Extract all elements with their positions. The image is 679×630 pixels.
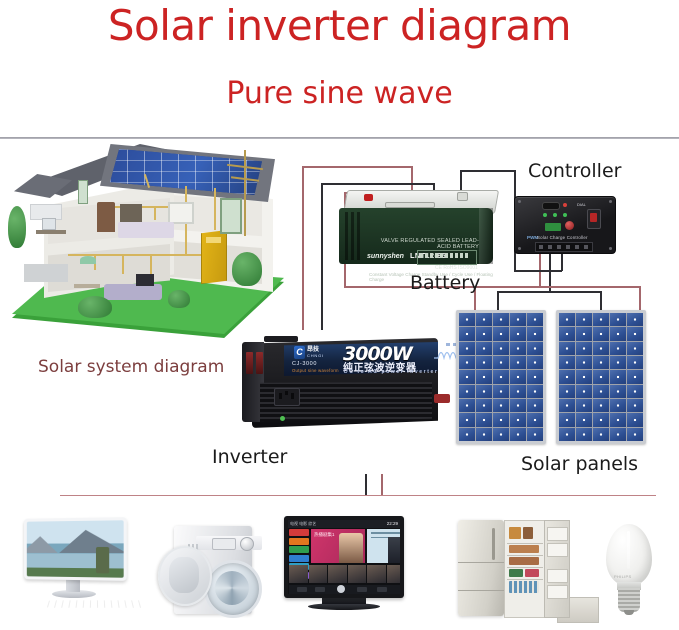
- tv-bezel: 电视 电影 综艺 22:29 热播剧集1: [284, 516, 404, 598]
- tv-screen: 电视 电影 综艺 22:29 热播剧集1: [288, 520, 400, 594]
- inverter-terminal-negative: [256, 352, 263, 374]
- inverter-terminal-positive: [246, 352, 253, 374]
- label-inverter: Inverter: [212, 446, 287, 468]
- controller-screw-tr: [609, 200, 612, 203]
- wire-inverter-to-battery-neg-top: [321, 183, 433, 185]
- inverter-name-english: DC to AC power inverter: [344, 369, 438, 375]
- inverter-logo-bottom: CHNGI: [307, 353, 324, 358]
- fridge-door-bin-3: [547, 569, 568, 583]
- bush-front: [78, 296, 112, 318]
- solar-panel-2: [556, 310, 646, 444]
- wire-battery-top-to-controller-top: [460, 170, 515, 172]
- appliance-refrigerator: [452, 516, 574, 620]
- controller-subtitle: Solar Charge Controller: [537, 235, 588, 240]
- wire-inverter-output-right: [381, 474, 383, 495]
- divider-bottom: [60, 495, 656, 496]
- inverter-model-number: CJ-3000: [292, 361, 317, 367]
- page-title: Solar inverter diagram: [0, 2, 679, 50]
- fridge-interior: [504, 520, 546, 618]
- charge-controller-unit: DIAL PWM Solar Charge Controller: [514, 196, 616, 254]
- inverter-power-led: [280, 416, 285, 421]
- house-desk: [36, 230, 66, 234]
- wire-panel-1-drop: [497, 291, 499, 310]
- divider-top: [0, 137, 679, 139]
- battery-rib-3: [357, 212, 360, 260]
- tv-stand: [322, 598, 366, 604]
- bulb-brand: PHILIPS: [614, 574, 631, 579]
- controller-led-green-1: [543, 213, 547, 217]
- fridge-food-1: [509, 527, 521, 539]
- house-dining-table: [74, 284, 100, 288]
- house-pendant-lamp: [80, 256, 96, 264]
- washer-door[interactable]: [204, 560, 262, 618]
- fridge-open-door[interactable]: [544, 520, 570, 618]
- appliance-washing-machine: [158, 518, 262, 618]
- fridge-handle[interactable]: [492, 528, 495, 560]
- wire-controller-side-bottom: [514, 270, 562, 272]
- label-solar-panels: Solar panels: [521, 453, 638, 475]
- wallpaper-mountain-2: [59, 529, 124, 553]
- washer-program-dial[interactable]: [240, 537, 254, 551]
- tv-thumbnail-grid[interactable]: [289, 565, 400, 583]
- battery-terminal-positive: [364, 194, 373, 201]
- battery-unit: VALVE REGULATED SEALED LEAD-ACID BATTERY…: [337, 190, 499, 268]
- solar-panel-2-cells: [559, 313, 643, 441]
- utility-pole: [244, 150, 246, 236]
- wire-inverter-output-left: [365, 474, 367, 495]
- battery-case: VALVE REGULATED SEALED LEAD-ACID BATTERY…: [339, 208, 493, 264]
- controller-terminal-block: [545, 223, 561, 231]
- tv-hero-panel[interactable]: 热播剧集1: [311, 529, 365, 563]
- wire-battery-top-to-controller-left: [460, 170, 462, 192]
- washer-open-lid[interactable]: [158, 546, 212, 606]
- monitor-screen: [24, 517, 127, 581]
- battery-brand: sunnyshen: [367, 253, 404, 260]
- controller-terminal-ports: [535, 242, 593, 252]
- fridge-food-3: [509, 545, 539, 553]
- house-sofa: [104, 284, 162, 300]
- fridge-food-2: [523, 527, 533, 539]
- controller-led-red: [563, 203, 567, 207]
- monitor-stand-neck: [66, 578, 80, 592]
- inverter-logo-mark: C: [294, 346, 305, 359]
- fridge-door-bin-2: [547, 543, 568, 557]
- bulb-contact-tip: [624, 610, 634, 615]
- washer-drum: [215, 571, 249, 605]
- solar-panel-1-cells: [459, 313, 543, 441]
- house-window-right: [220, 198, 242, 234]
- inverter-unit: C 昂技 CHNGI 3000W 纯正弦波逆变器 DC to AC power …: [238, 330, 450, 442]
- house-kitchen-counter: [24, 264, 68, 282]
- house-cable-lower-branch-2: [122, 254, 124, 274]
- house-cable-vertical-right: [214, 188, 216, 230]
- tv-status-left: 电视 电影 综艺: [290, 521, 316, 527]
- fridge-door-bin-4: [547, 585, 568, 599]
- house-bed: [118, 222, 174, 238]
- tv-base: [308, 603, 380, 610]
- bush-right: [232, 252, 262, 286]
- appliance-monitor: [18, 518, 132, 614]
- tv-info-photo: [388, 537, 400, 563]
- wire-panel-bus-red-horizontal: [474, 286, 640, 288]
- fridge-bottles: [509, 581, 539, 593]
- controller-screw-br: [609, 247, 612, 250]
- appliance-led-bulb: PHILIPS: [600, 524, 660, 620]
- inverter-model-subtitle: Output sine waveform: [292, 368, 339, 373]
- battery-vent-cap: [385, 202, 435, 208]
- controller-display: [542, 202, 560, 210]
- controller-led-green-3: [563, 213, 567, 217]
- battery-label-top-text: VALVE REGULATED SEALED LEAD-ACID BATTERY: [367, 238, 479, 250]
- wire-inverter-to-battery-neg-vertical: [321, 183, 323, 330]
- washer-display: [212, 538, 236, 550]
- house-door-front: [97, 202, 115, 232]
- house-cable-upper-branch-2: [154, 206, 156, 220]
- fridge-closed-door[interactable]: [458, 520, 504, 616]
- house-picture-frame: [168, 202, 194, 224]
- appliance-television: 电视 电影 综艺 22:29 热播剧集1: [284, 516, 406, 618]
- inverter-ac-outlet[interactable]: [274, 388, 300, 406]
- tv-dock-bar[interactable]: [289, 585, 400, 594]
- battery-spec-chip: [417, 250, 477, 265]
- battery-rib-1: [345, 212, 348, 260]
- controller-led-green-2: [553, 213, 557, 217]
- house-tv-interior: [136, 274, 154, 286]
- controller-button-panel[interactable]: [587, 209, 601, 229]
- fridge-food-5: [509, 569, 523, 577]
- wallpaper-tree: [96, 547, 110, 573]
- bulb-screw-base: [618, 588, 640, 612]
- solar-panel-1: [456, 310, 546, 444]
- fridge-door-bin-1: [547, 527, 568, 541]
- label-controller: Controller: [528, 160, 621, 182]
- controller-dial-label: DIAL: [577, 202, 586, 207]
- fridge-food-6: [525, 569, 539, 577]
- controller-screw-tl: [518, 200, 521, 203]
- controller-dial-knob[interactable]: [565, 221, 574, 230]
- house-monitor-interior: [42, 218, 56, 230]
- solar-system-house-illustration: [8, 144, 293, 349]
- battery-certifications: CE RoHS ISO9001: [435, 265, 478, 271]
- tv-status-bar: 电视 电影 综艺 22:29: [288, 520, 400, 528]
- label-solar-system-diagram: Solar system diagram: [38, 357, 224, 377]
- house-window-gable: [78, 180, 88, 204]
- bush-front-2: [168, 290, 190, 308]
- monitor-wallpaper: [27, 520, 124, 577]
- wire-panel-2-drop: [600, 291, 602, 310]
- wire-panel-bus-horizontal: [497, 291, 601, 293]
- controller-screw-bl: [518, 247, 521, 250]
- battery-rib-2: [351, 212, 354, 260]
- wire-panel-2-red-drop: [639, 286, 641, 310]
- fridge-food-4: [509, 557, 539, 565]
- inverter-output-plug: [434, 394, 450, 403]
- house-inverter-box: [201, 230, 227, 284]
- tv-hero-caption: 热播剧集1: [314, 532, 335, 538]
- wire-controller-pv-terminal-drop: [561, 252, 563, 271]
- monitor-keyboard: [47, 600, 145, 607]
- battery-terminal-negative: [457, 192, 468, 201]
- page-subtitle: Pure sine wave: [0, 76, 679, 112]
- inverter-brand-logo: C 昂技 CHNGI: [294, 346, 324, 359]
- label-battery: Battery: [410, 272, 480, 294]
- wire-inverter-to-battery-outer-vertical: [302, 166, 304, 330]
- tv-hero-photo: [339, 533, 363, 563]
- wire-inverter-to-battery-outer-top: [302, 166, 412, 168]
- bush-left: [8, 206, 26, 248]
- tv-info-panel[interactable]: [367, 529, 400, 563]
- inverter-top-vent: [264, 336, 298, 342]
- tv-clock: 22:29: [387, 521, 398, 526]
